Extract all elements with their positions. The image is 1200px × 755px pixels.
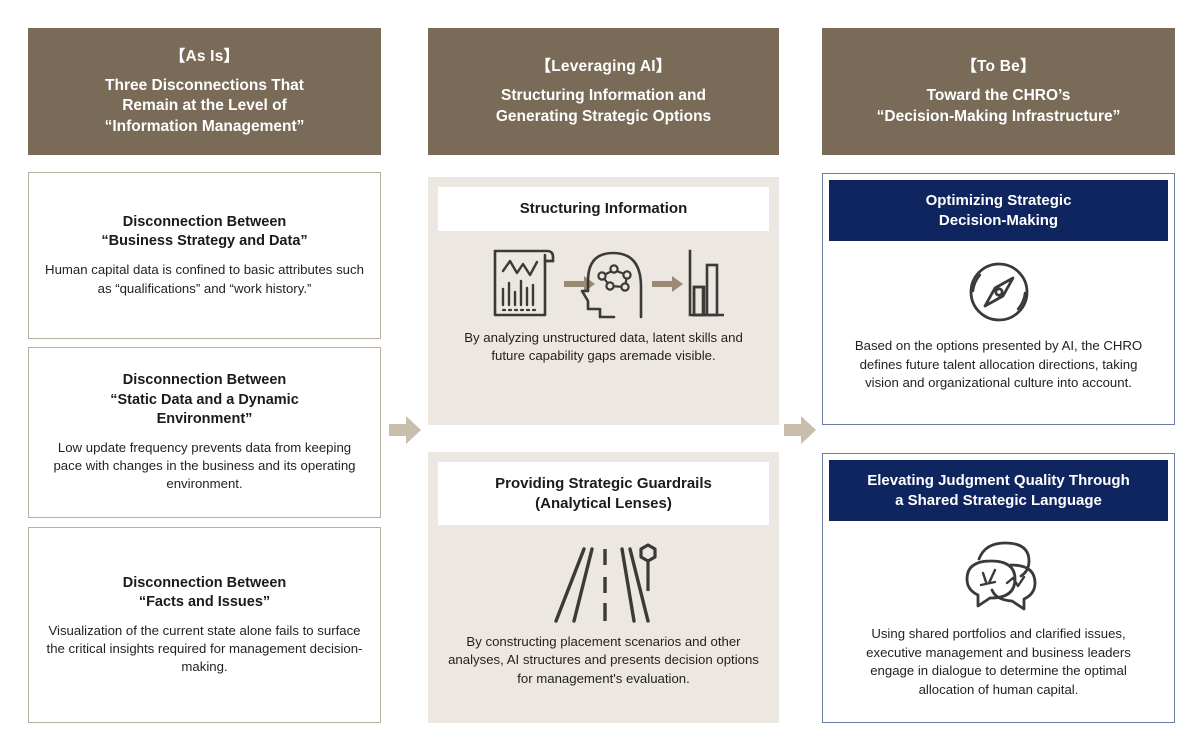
card-title-line-3: Environment” — [45, 410, 364, 429]
card-body: Low update frequency prevents data from … — [45, 439, 364, 494]
card-title: Optimizing Strategic Decision-Making — [829, 180, 1168, 241]
header-title-line-2: Remain at the Level of — [105, 96, 305, 116]
panel-providing-strategic-guardrails: Providing Strategic Guardrails (Analytic… — [428, 452, 779, 723]
header-title-line-3: “Information Management” — [105, 117, 305, 137]
right-arrow-icon — [784, 415, 816, 445]
card-title-line-1: Disconnection Between — [45, 213, 364, 232]
panel-body: By constructing placement scenarios and … — [438, 633, 769, 688]
card-body: Based on the options presented by AI, th… — [829, 337, 1168, 393]
header-bracket-label: 【As Is】 — [170, 44, 239, 66]
header-title-line-1: Three Disconnections That — [105, 76, 305, 96]
card-title: Disconnection Between “Business Strategy… — [45, 213, 364, 251]
card-title-line-2: Decision-Making — [837, 211, 1160, 231]
panel-title-line-2: (Analytical Lenses) — [446, 494, 761, 514]
road-guardrail-icon — [544, 539, 664, 625]
speech-bubbles-icon — [951, 537, 1047, 615]
panel-title: Providing Strategic Guardrails (Analytic… — [438, 462, 769, 525]
compass-icon — [964, 257, 1034, 327]
header-title-line-2: Generating Strategic Options — [496, 107, 711, 127]
card-body: Using shared portfolios and clarified is… — [829, 625, 1168, 700]
card-title-line-2: “Static Data and a Dynamic — [45, 391, 364, 410]
header-title: Three Disconnections That Remain at the … — [105, 76, 305, 137]
column-as-is: 【As Is】 Three Disconnections That Remain… — [28, 28, 381, 155]
card-disconnection-facts-and-issues: Disconnection Between “Facts and Issues”… — [28, 527, 381, 723]
card-title: Elevating Judgment Quality Through a Sha… — [829, 460, 1168, 521]
card-optimizing-strategic-decision-making: Optimizing Strategic Decision-Making Bas… — [822, 173, 1175, 425]
card-title-line-1: Disconnection Between — [45, 371, 364, 390]
column-to-be: 【To Be】 Toward the CHRO’s “Decision-Maki… — [822, 28, 1175, 155]
column-header-leveraging-ai: 【Leveraging AI】 Structuring Information … — [428, 28, 779, 155]
header-title-line-2: “Decision-Making Infrastructure” — [877, 107, 1121, 127]
column-header-to-be: 【To Be】 Toward the CHRO’s “Decision-Maki… — [822, 28, 1175, 155]
header-bracket-label: 【Leveraging AI】 — [536, 54, 672, 76]
card-title: Disconnection Between “Static Data and a… — [45, 371, 364, 428]
card-title-line-1: Elevating Judgment Quality Through — [837, 471, 1160, 491]
header-title-line-1: Toward the CHRO’s — [877, 86, 1121, 106]
panel-body: By analyzing unstructured data, latent s… — [438, 329, 769, 366]
diagram-canvas: 【As Is】 Three Disconnections That Remain… — [0, 0, 1200, 755]
panel-title: Structuring Information — [438, 187, 769, 231]
card-disconnection-static-data-dynamic-environment: Disconnection Between “Static Data and a… — [28, 347, 381, 518]
card-title-line-2: “Facts and Issues” — [45, 593, 364, 612]
column-leveraging-ai: 【Leveraging AI】 Structuring Information … — [428, 28, 779, 155]
panel-structuring-information: Structuring Information — [428, 177, 779, 425]
card-title-line-1: Disconnection Between — [45, 574, 364, 593]
card-title: Disconnection Between “Facts and Issues” — [45, 574, 364, 612]
right-arrow-icon — [389, 415, 421, 445]
arrow-as-is-to-leveraging-ai — [389, 415, 421, 445]
arrow-leveraging-ai-to-to-be — [784, 415, 816, 445]
header-title-line-1: Structuring Information and — [496, 86, 711, 106]
column-header-as-is: 【As Is】 Three Disconnections That Remain… — [28, 28, 381, 155]
header-title: Toward the CHRO’s “Decision-Making Infra… — [877, 86, 1121, 127]
card-elevating-judgment-quality: Elevating Judgment Quality Through a Sha… — [822, 453, 1175, 723]
card-body: Human capital data is confined to basic … — [45, 261, 364, 297]
header-bracket-label: 【To Be】 — [961, 54, 1035, 76]
card-title-line-1: Optimizing Strategic — [837, 191, 1160, 211]
card-title-line-2: “Business Strategy and Data” — [45, 232, 364, 251]
card-disconnection-business-strategy-and-data: Disconnection Between “Business Strategy… — [28, 172, 381, 339]
card-body: Visualization of the current state alone… — [45, 622, 364, 677]
card-title-line-2: a Shared Strategic Language — [837, 491, 1160, 511]
document-to-brain-to-barchart-icon — [484, 245, 724, 321]
header-title: Structuring Information and Generating S… — [496, 86, 711, 127]
panel-title-line-1: Providing Strategic Guardrails — [446, 474, 761, 494]
